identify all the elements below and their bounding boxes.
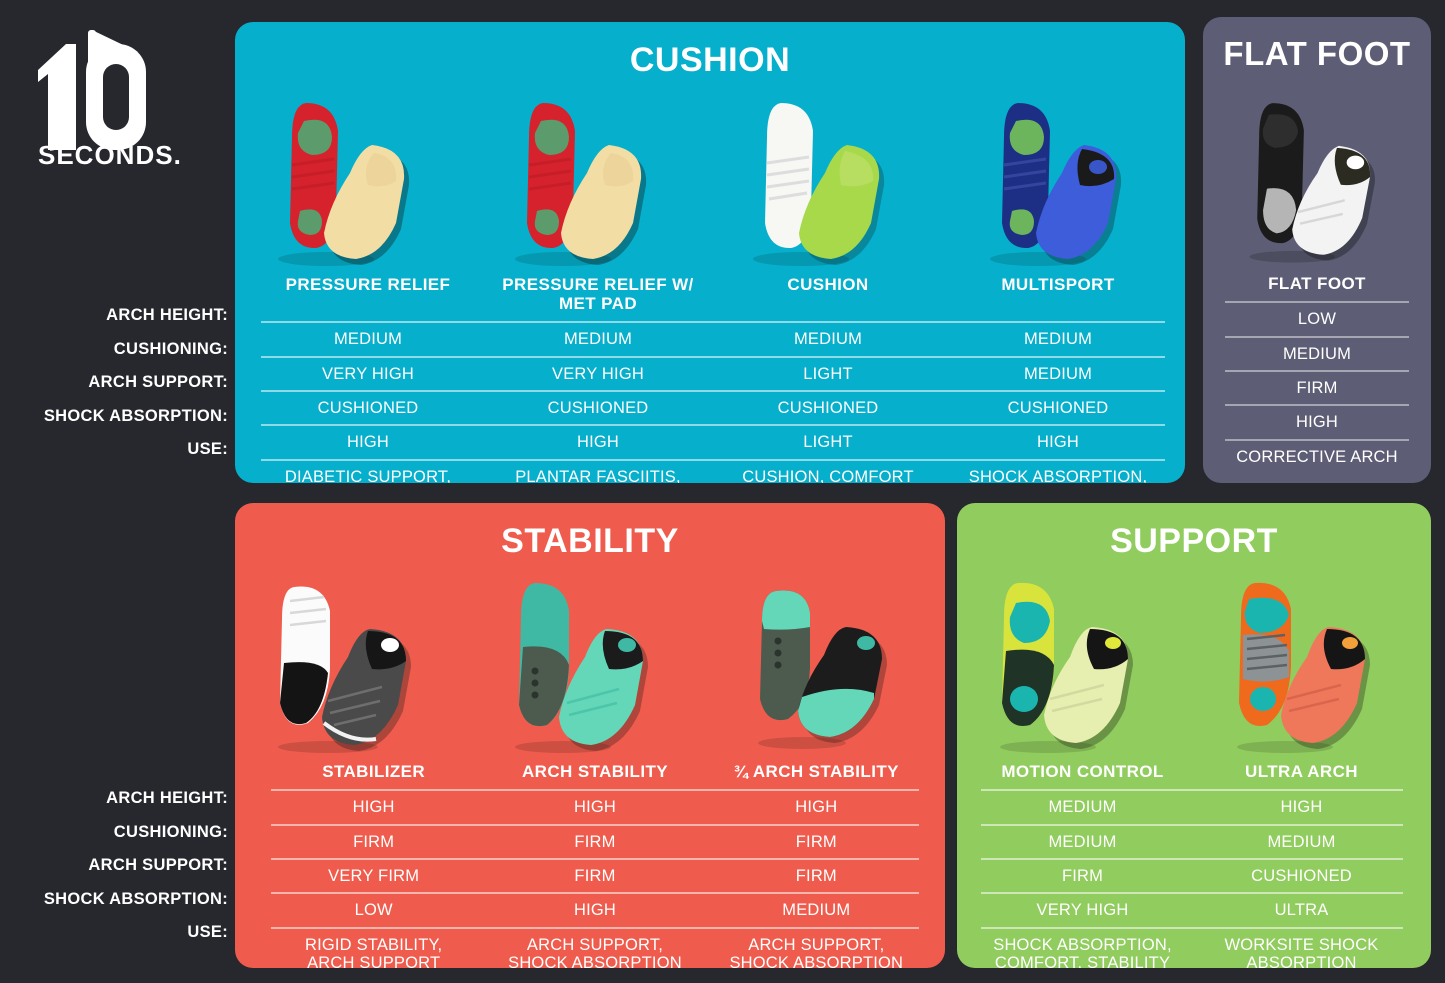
cell-cushioning: FIRM <box>706 826 927 858</box>
cell-arch-height: MEDIUM <box>483 323 713 355</box>
row-label-shock-absorption-2: SHOCK ABSORPTION: <box>44 890 228 909</box>
row-label-arch-height: ARCH HEIGHT: <box>106 306 228 325</box>
cushion-header-row: PRESSURE RELIEF PRESSURE RELIEF W/ MET P… <box>253 268 1173 321</box>
cell-arch-support: FIRM <box>484 860 705 892</box>
product-image-motion-control <box>957 569 1194 755</box>
product-name: PRESSURE RELIEF <box>253 268 483 321</box>
row-label-use: USE: <box>187 440 228 459</box>
table-row: HIGH HIGH HIGH <box>263 791 927 823</box>
table-row: LOW <box>1217 303 1417 335</box>
cell-arch-support: CUSHIONED <box>1192 860 1411 892</box>
cell-arch-support: CUSHIONED <box>483 392 713 424</box>
table-row: HIGH <box>1217 406 1417 438</box>
brand-logo: SECONDS. <box>30 22 210 182</box>
cell-shock-absorption: HIGH <box>1217 406 1417 438</box>
row-label-arch-height-2: ARCH HEIGHT: <box>106 789 228 808</box>
cell-use: ARCH SUPPORT, SHOCK ABSORPTION <box>706 929 927 968</box>
cell-arch-height: HIGH <box>263 791 484 823</box>
cell-arch-height: MEDIUM <box>253 323 483 355</box>
product-image-pressure-relief <box>235 88 473 268</box>
row-label-shock-absorption: SHOCK ABSORPTION: <box>44 407 228 426</box>
table-row: CORRECTIVE ARCH <box>1217 441 1417 473</box>
cell-use: SHOCK ABSORPTION, COMFORT, STABILITY <box>973 929 1192 968</box>
cell-shock-absorption: HIGH <box>483 426 713 458</box>
table-row: FIRM CUSHIONED <box>973 860 1411 892</box>
cell-use: CUSHION, COMFORT <box>713 461 943 483</box>
cell-shock-absorption: LOW <box>263 894 484 926</box>
product-image-flat-foot <box>1203 85 1431 267</box>
stability-product-images <box>235 569 945 755</box>
cell-arch-height: HIGH <box>484 791 705 823</box>
panel-stability: STABILITY <box>235 503 945 968</box>
product-name: MULTISPORT <box>943 268 1173 321</box>
cell-use: CORRECTIVE ARCH <box>1217 441 1417 473</box>
cell-cushioning: MEDIUM <box>973 826 1192 858</box>
support-header-row: MOTION CONTROL ULTRA ARCH <box>973 755 1411 789</box>
cell-use: ARCH SUPPORT, SHOCK ABSORPTION <box>484 929 705 968</box>
cell-arch-height: MEDIUM <box>713 323 943 355</box>
table-row: VERY FIRM FIRM FIRM <box>263 860 927 892</box>
cell-arch-height: MEDIUM <box>943 323 1173 355</box>
table-row: FIRM <box>1217 372 1417 404</box>
row-label-cushioning-2: CUSHIONING: <box>114 823 228 842</box>
panel-support: SUPPORT <box>957 503 1431 968</box>
product-image-pressure-relief-met-pad <box>473 88 711 268</box>
cell-cushioning: FIRM <box>484 826 705 858</box>
table-row: RIGID STABILITY, ARCH SUPPORT ARCH SUPPO… <box>263 929 927 968</box>
cushion-product-images <box>235 88 1185 268</box>
product-image-stabilizer <box>235 569 472 755</box>
product-name: STABILIZER <box>263 755 484 789</box>
product-name: FLAT FOOT <box>1217 267 1417 301</box>
cell-use: PLANTAR FASCIITIS, MORTON'S NEUROMA <box>483 461 713 483</box>
product-name: ¾ ARCH STABILITY <box>706 755 927 789</box>
cell-cushioning: MEDIUM <box>943 358 1173 390</box>
cell-arch-support: FIRM <box>1217 372 1417 404</box>
product-image-three-quarter-arch-stability <box>708 569 945 755</box>
row-label-arch-support: ARCH SUPPORT: <box>88 373 228 392</box>
cell-cushioning: MEDIUM <box>1192 826 1411 858</box>
cell-arch-support: VERY FIRM <box>263 860 484 892</box>
cell-use: WORKSITE SHOCK ABSORPTION <box>1192 929 1411 968</box>
table-row: VERY HIGH ULTRA <box>973 894 1411 926</box>
table-row: FIRM FIRM FIRM <box>263 826 927 858</box>
cell-cushioning: LIGHT <box>713 358 943 390</box>
cell-arch-height: HIGH <box>1192 791 1411 823</box>
cell-use: RIGID STABILITY, ARCH SUPPORT <box>263 929 484 968</box>
panel-title-cushion: CUSHION <box>235 41 1185 80</box>
stability-header-row: STABILIZER ARCH STABILITY ¾ ARCH STABILI… <box>263 755 927 789</box>
panel-title-support: SUPPORT <box>957 522 1431 561</box>
panel-title-flat-foot: FLAT FOOT <box>1203 35 1431 73</box>
product-image-arch-stability <box>472 569 709 755</box>
cell-shock-absorption: HIGH <box>484 894 705 926</box>
table-row: VERY HIGH VERY HIGH LIGHT MEDIUM <box>253 358 1173 390</box>
cell-shock-absorption: VERY HIGH <box>973 894 1192 926</box>
cell-arch-support: CUSHIONED <box>253 392 483 424</box>
comparison-chart: SECONDS. ARCH HEIGHT: CUSHIONING: ARCH S… <box>0 0 1445 983</box>
product-image-ultra-arch <box>1194 569 1431 755</box>
cell-cushioning: VERY HIGH <box>483 358 713 390</box>
cell-shock-absorption: HIGH <box>253 426 483 458</box>
table-row: MEDIUM MEDIUM MEDIUM MEDIUM <box>253 323 1173 355</box>
table-row: LOW HIGH MEDIUM <box>263 894 927 926</box>
product-name: MOTION CONTROL <box>973 755 1192 789</box>
product-name: ARCH STABILITY <box>484 755 705 789</box>
product-name: PRESSURE RELIEF W/ MET PAD <box>483 268 713 321</box>
row-label-arch-support-2: ARCH SUPPORT: <box>88 856 228 875</box>
product-name: ULTRA ARCH <box>1192 755 1411 789</box>
row-label-cushioning: CUSHIONING: <box>114 340 228 359</box>
table-row: CUSHIONED CUSHIONED CUSHIONED CUSHIONED <box>253 392 1173 424</box>
logo-wordmark: SECONDS. <box>38 140 182 171</box>
cell-arch-support: FIRM <box>973 860 1192 892</box>
cell-use: SHOCK ABSORPTION, STABILITY, COMFORT <box>943 461 1173 483</box>
cushion-table: PRESSURE RELIEF PRESSURE RELIEF W/ MET P… <box>235 268 1185 483</box>
product-image-cushion <box>710 88 948 268</box>
table-row: MEDIUM MEDIUM <box>973 826 1411 858</box>
cell-cushioning: VERY HIGH <box>253 358 483 390</box>
cell-shock-absorption: HIGH <box>943 426 1173 458</box>
cell-cushioning: FIRM <box>263 826 484 858</box>
cell-arch-height: LOW <box>1217 303 1417 335</box>
product-image-multisport <box>948 88 1186 268</box>
flat-foot-table: FLAT FOOT LOW MEDIUM FIRM HIGH <box>1203 267 1431 473</box>
cell-arch-height: HIGH <box>706 791 927 823</box>
cell-shock-absorption: ULTRA <box>1192 894 1411 926</box>
stability-table: STABILIZER ARCH STABILITY ¾ ARCH STABILI… <box>235 755 945 968</box>
table-row: MEDIUM HIGH <box>973 791 1411 823</box>
product-name: CUSHION <box>713 268 943 321</box>
cell-shock-absorption: MEDIUM <box>706 894 927 926</box>
panel-title-stability: STABILITY <box>235 522 945 561</box>
panel-cushion: CUSHION <box>235 22 1185 483</box>
cell-arch-support: CUSHIONED <box>713 392 943 424</box>
cell-use: DIABETIC SUPPORT, CUSTOM COMFORT <box>253 461 483 483</box>
flat-foot-header-row: FLAT FOOT <box>1217 267 1417 301</box>
table-row: SHOCK ABSORPTION, COMFORT, STABILITY WOR… <box>973 929 1411 968</box>
support-table: MOTION CONTROL ULTRA ARCH MEDIUM HIGH ME… <box>957 755 1431 968</box>
cell-shock-absorption: LIGHT <box>713 426 943 458</box>
cell-arch-support: CUSHIONED <box>943 392 1173 424</box>
row-label-use-2: USE: <box>187 923 228 942</box>
support-product-images <box>957 569 1431 755</box>
cell-arch-support: FIRM <box>706 860 927 892</box>
panel-flat-foot: FLAT FOOT FLAT FOOT <box>1203 17 1431 483</box>
table-row: MEDIUM <box>1217 338 1417 370</box>
table-row: HIGH HIGH LIGHT HIGH <box>253 426 1173 458</box>
cell-arch-height: MEDIUM <box>973 791 1192 823</box>
cell-cushioning: MEDIUM <box>1217 338 1417 370</box>
flat-foot-product-images <box>1203 85 1431 267</box>
table-row: DIABETIC SUPPORT, CUSTOM COMFORT PLANTAR… <box>253 461 1173 483</box>
